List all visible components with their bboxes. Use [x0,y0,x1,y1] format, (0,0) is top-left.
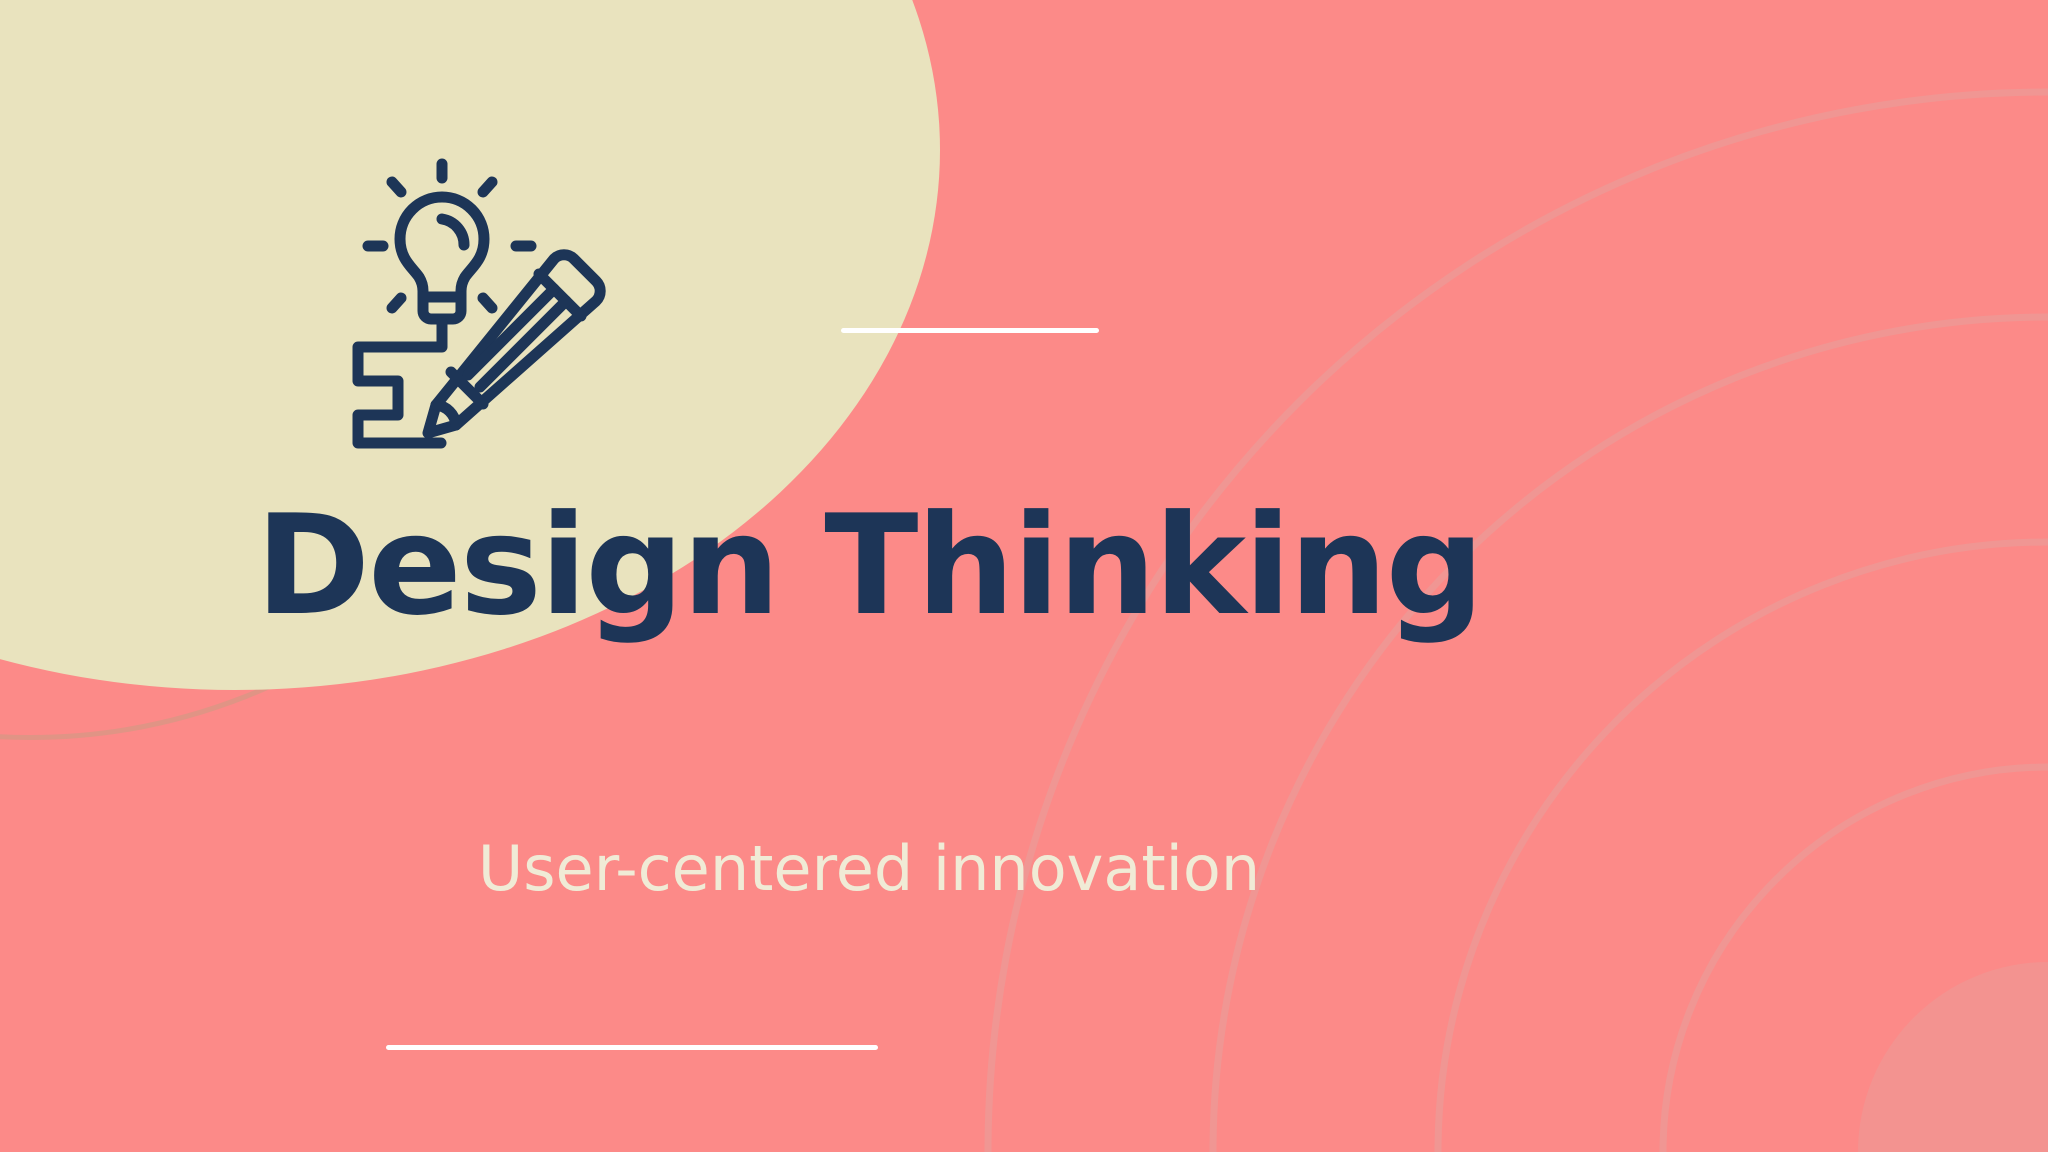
page-title: Design Thinking [0,497,2048,635]
page-subtitle: User-centered innovation [0,838,2048,900]
slide-canvas: Design Thinking User-centered innovation [0,0,2048,1152]
bottom-left-divider [386,1045,878,1050]
lightbulb-pencil-steps-icon [296,126,626,456]
top-right-divider [841,328,1099,333]
